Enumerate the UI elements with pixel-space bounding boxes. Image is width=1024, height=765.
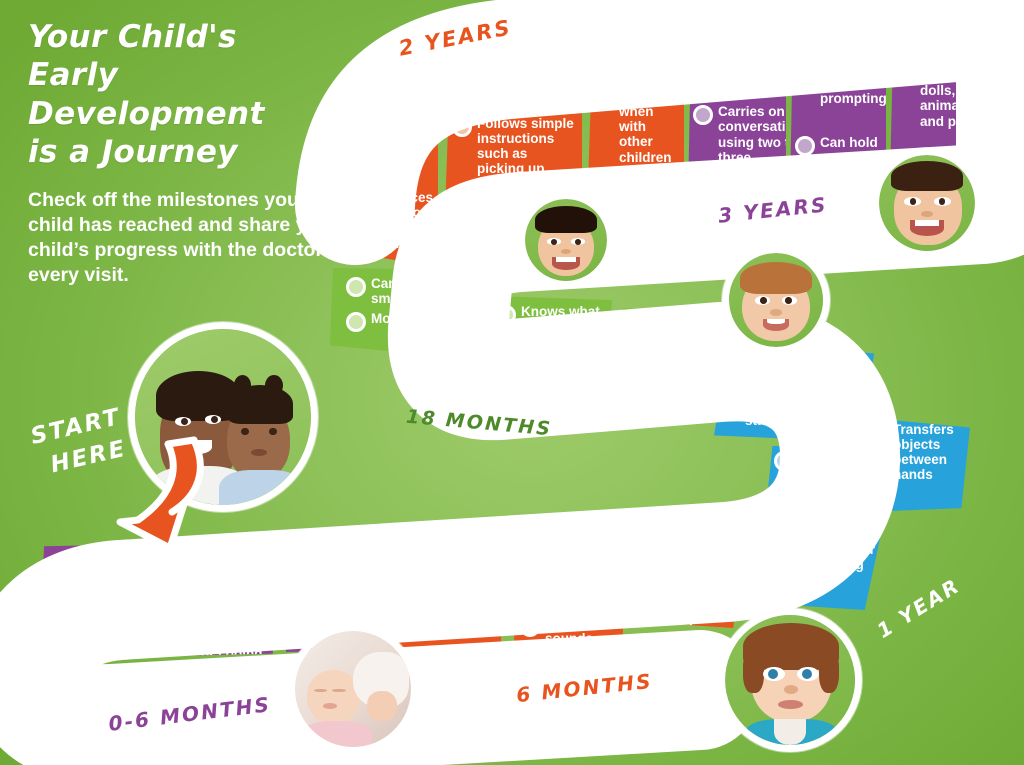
page-title-line-1: Your Child's xyxy=(28,18,348,56)
photo-one-year xyxy=(718,608,862,752)
page-subtitle: Check off the milestones your child has … xyxy=(28,188,348,288)
photo-eighteen-months xyxy=(722,246,830,354)
photo-three-years xyxy=(872,148,982,258)
photo-sleeping-baby xyxy=(288,624,418,754)
infographic-canvas: 2 YEARS Kicks a ball Says sentences with… xyxy=(0,0,1024,765)
header-block: Your Child's Early Development is a Jour… xyxy=(28,18,348,288)
photo-two-years xyxy=(518,192,614,288)
page-title-line-2: Early Development xyxy=(28,56,348,133)
page-title-line-3: is a Journey xyxy=(28,133,348,171)
